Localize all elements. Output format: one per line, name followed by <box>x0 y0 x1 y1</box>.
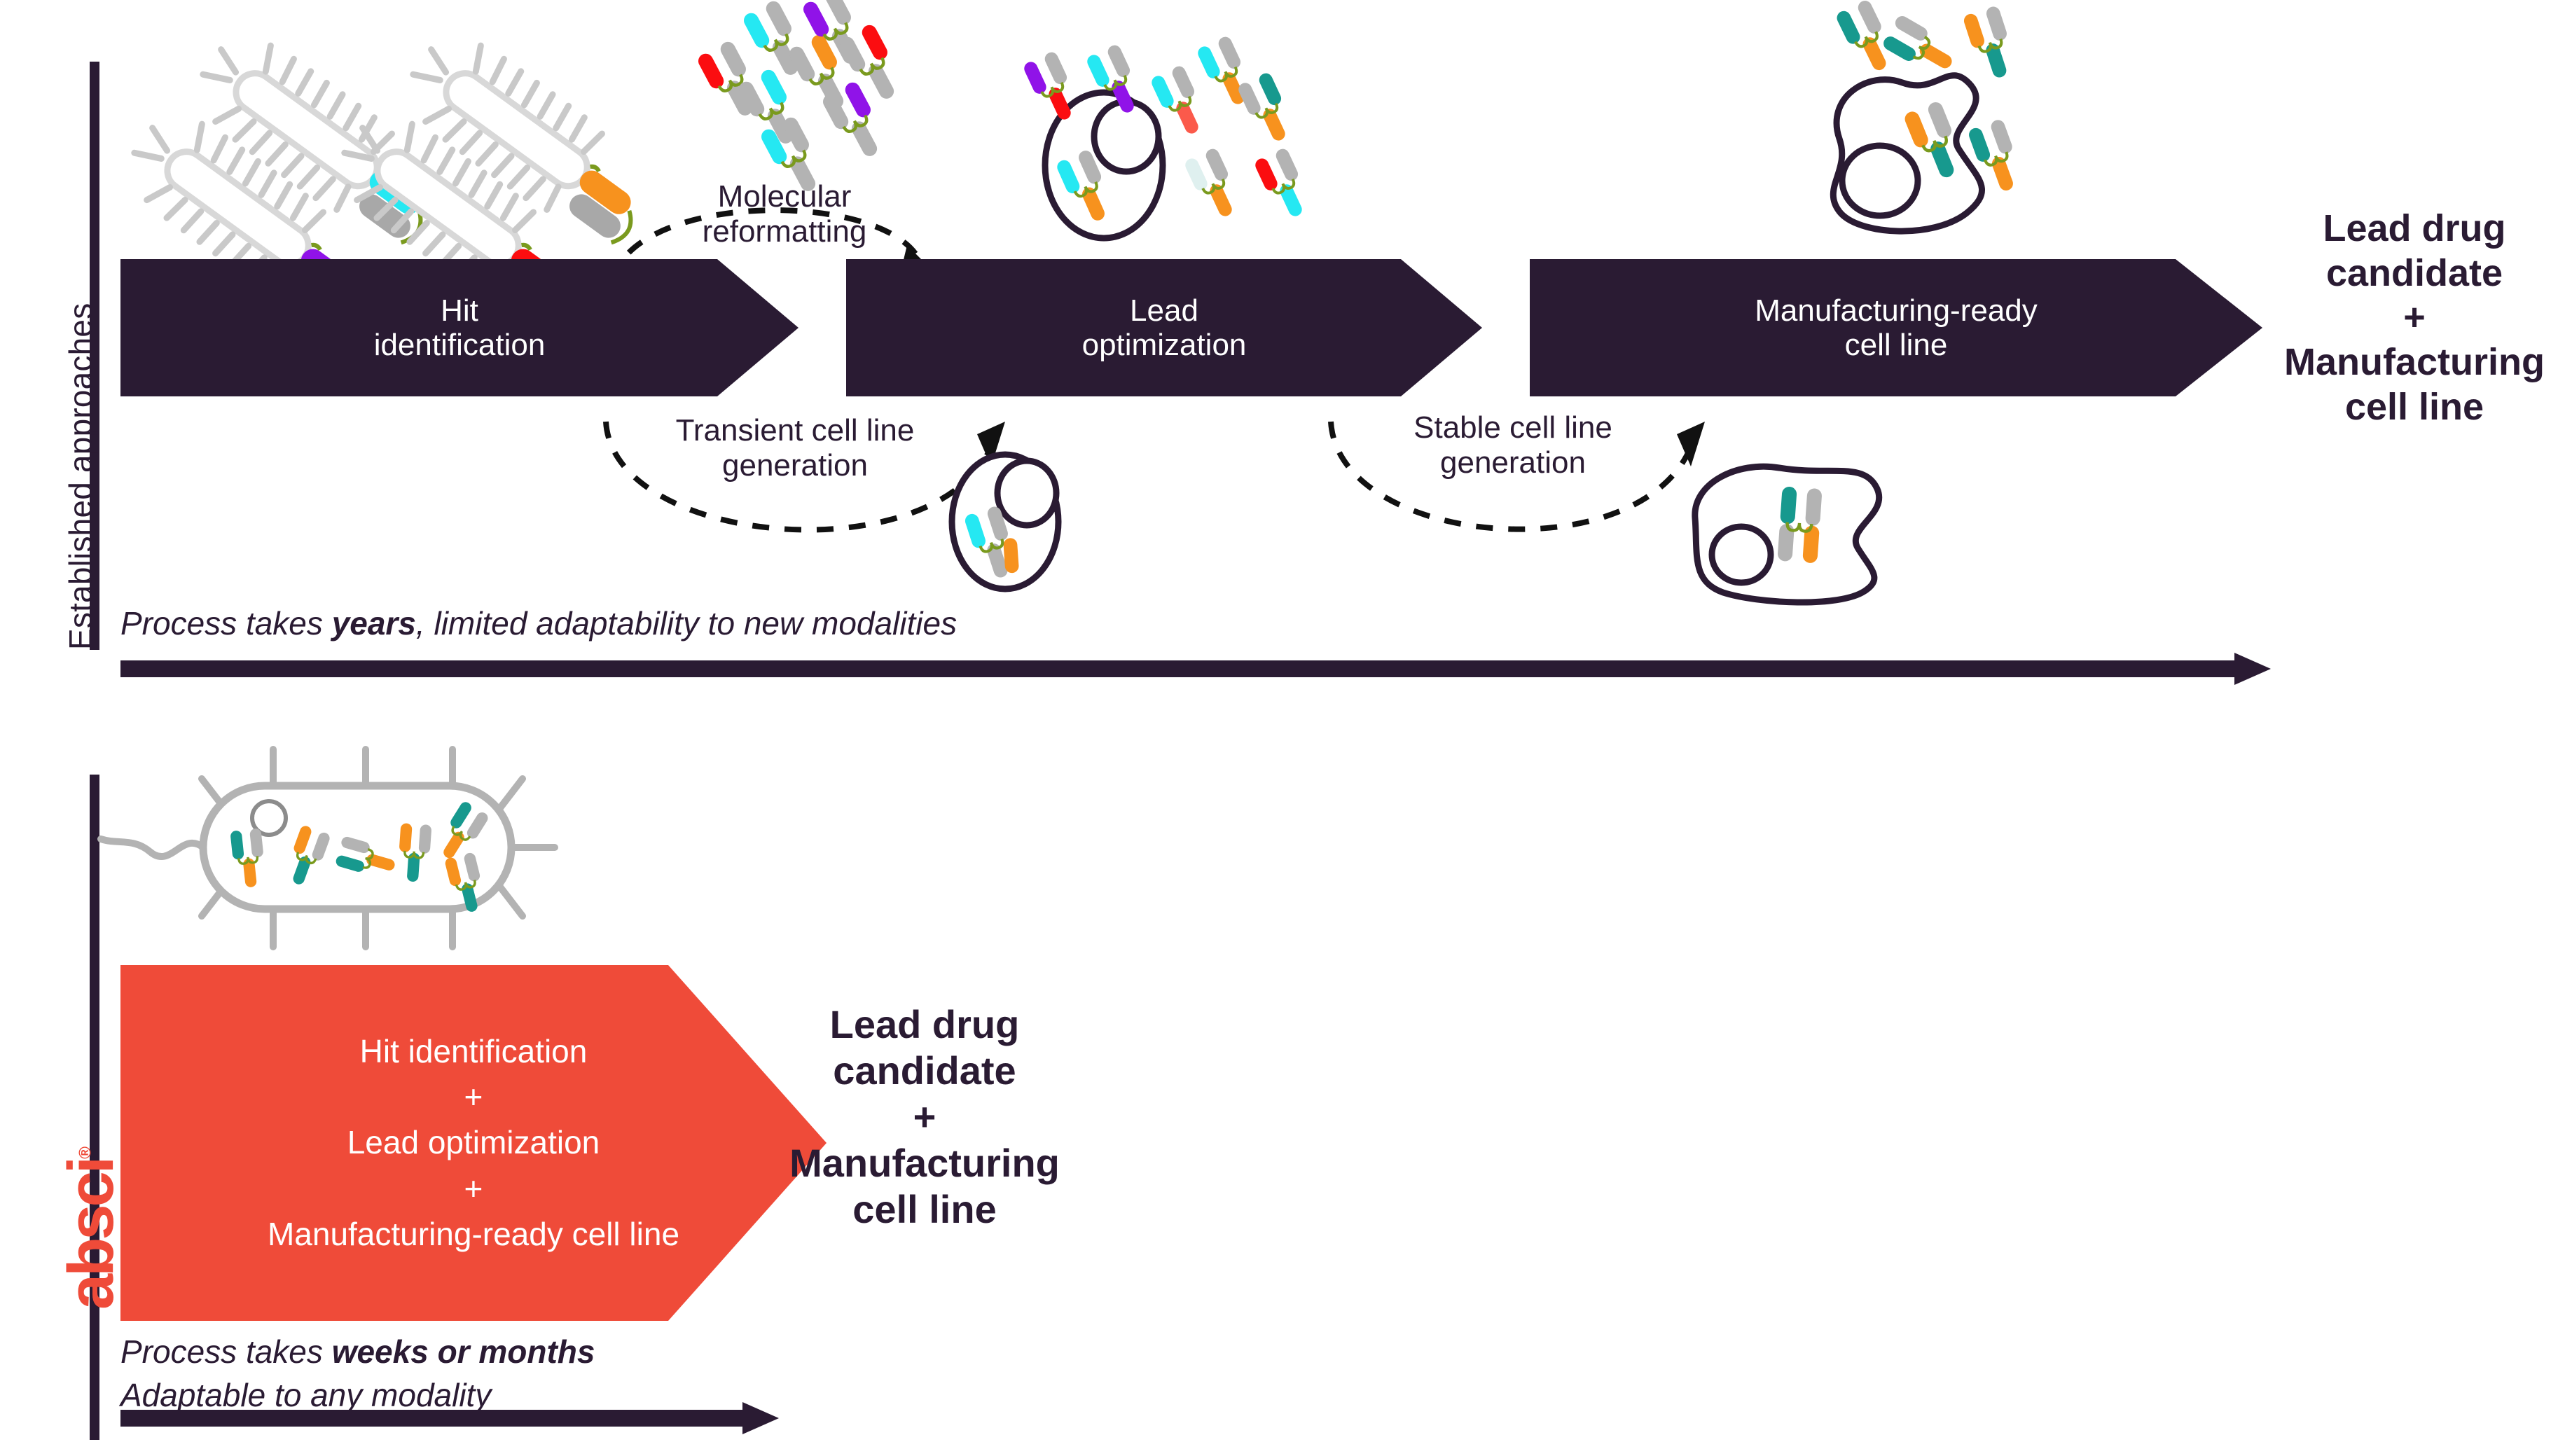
absci-logo: absci® <box>59 1146 123 1310</box>
absci-logo-text: absci <box>55 1159 127 1310</box>
stage-label-line1: Lead <box>1082 293 1247 328</box>
established-process-note: Process takes years, limited adaptabilit… <box>120 602 957 646</box>
established-outcome-text: Lead drug candidate + Manufacturing cell… <box>2278 207 2551 430</box>
stage-label-line2: optimization <box>1082 328 1247 362</box>
stable-cell-line-line1: Stable cell line <box>1369 410 1657 445</box>
stage-label-line1: Hit <box>374 293 546 328</box>
timeline-arrowhead <box>742 1402 779 1434</box>
molecular-reformatting-line2: reformatting <box>679 214 890 249</box>
stage-label-line2: identification <box>374 328 546 362</box>
molecular-reformatting-label: Molecular reformatting <box>679 179 890 249</box>
absci-outcome-text: Lead drug candidate + Manufacturing cell… <box>742 1001 1107 1233</box>
transient-cell-line-generation-label: Transient cell line generation <box>644 413 946 483</box>
outcome-plus: + <box>742 1094 1107 1140</box>
transient-cell-line-line1: Transient cell line <box>644 413 946 448</box>
note-prefix: Process takes <box>120 605 332 642</box>
established-approaches-label: Established approaches <box>62 303 99 650</box>
diagram-canvas: Established approaches absci® <box>0 0 2551 1456</box>
absci-stage-line1: Hit identification <box>268 1029 679 1074</box>
timeline-arrow-icon-absci <box>120 1402 779 1434</box>
lead-optimization-illustration <box>1002 0 1366 231</box>
ecoli-cell-icon <box>98 742 588 952</box>
outcome-line4: cell line <box>742 1186 1107 1233</box>
outcome-line3: Manufacturing <box>742 1140 1107 1186</box>
stage-chevron-absci-combined[interactable]: Hit identification + Lead optimization +… <box>120 965 827 1321</box>
note-emphasis: years <box>332 605 416 642</box>
absci-stage-plus2: + <box>268 1166 679 1212</box>
absci-stage-line2: Lead optimization <box>268 1120 679 1165</box>
stage-chevron-manufacturing-ready-cell-line[interactable]: Manufacturing-ready cell line <box>1530 259 2262 396</box>
outcome-line2: candidate <box>2278 251 2551 296</box>
note-prefix: Process takes <box>120 1333 332 1370</box>
cho-cell-icon-stable <box>1674 441 1898 616</box>
timeline-bar <box>120 660 2234 677</box>
stage-label-line2: cell line <box>1755 328 2038 362</box>
timeline-bar <box>120 1410 742 1427</box>
absci-note-line1: Process takes weeks or months <box>120 1331 595 1374</box>
stage-chevron-lead-optimization[interactable]: Lead optimization <box>846 259 1482 396</box>
stage-chevron-hit-identification[interactable]: Hit identification <box>120 259 799 396</box>
outcome-line4: cell line <box>2278 385 2551 430</box>
transient-cell-line-line2: generation <box>644 448 946 483</box>
note-emphasis: weeks or months <box>332 1333 595 1370</box>
mammalian-cell-icon-transient <box>932 434 1086 609</box>
outcome-line1: Lead drug <box>2278 207 2551 251</box>
note-suffix: , limited adaptability to new modalities <box>416 605 957 642</box>
outcome-plus: + <box>2278 296 2551 340</box>
stable-cell-line-generation-label: Stable cell line generation <box>1369 410 1657 480</box>
timeline-arrow-icon-established <box>120 653 2271 685</box>
absci-stage-plus1: + <box>268 1074 679 1120</box>
absci-registered-mark: ® <box>76 1146 95 1159</box>
molecular-reformatting-line1: Molecular <box>679 179 890 214</box>
stage-label-line1: Manufacturing-ready <box>1755 293 2038 328</box>
manufacturing-ready-illustration <box>1702 0 2094 266</box>
absci-stage-line3: Manufacturing-ready cell line <box>268 1212 679 1257</box>
timeline-arrowhead <box>2234 653 2271 685</box>
outcome-line2: candidate <box>742 1048 1107 1094</box>
outcome-line1: Lead drug <box>742 1001 1107 1048</box>
stable-cell-line-line2: generation <box>1369 445 1657 480</box>
outcome-line3: Manufacturing <box>2278 340 2551 385</box>
